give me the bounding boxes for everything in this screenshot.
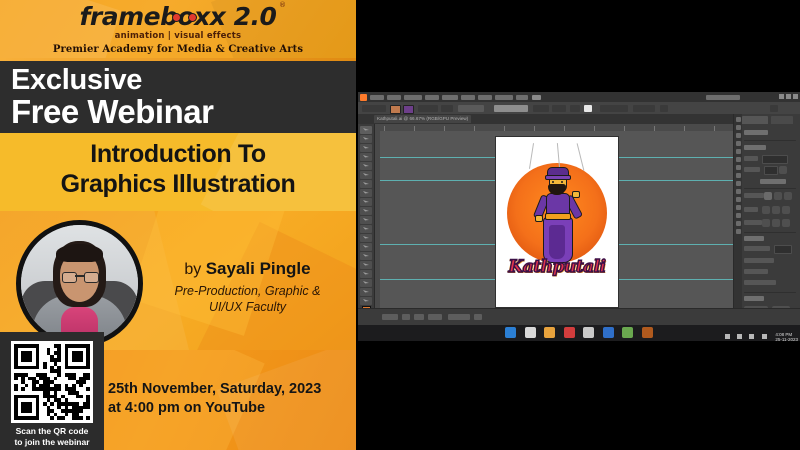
direct-selection-tool[interactable] — [360, 135, 372, 143]
magic-wand-tool[interactable] — [360, 144, 372, 152]
pathfinder-icon[interactable] — [736, 205, 741, 210]
avatar — [16, 220, 143, 347]
align-icon[interactable] — [736, 213, 741, 218]
show-rulers-button[interactable] — [762, 206, 770, 214]
swatches-icon[interactable] — [736, 149, 741, 154]
glasses-icon — [62, 272, 77, 283]
lasso-tool[interactable] — [360, 153, 372, 161]
snap-to-grid-button[interactable] — [772, 219, 780, 227]
gradient-tool[interactable] — [360, 279, 372, 287]
type-tool[interactable] — [360, 180, 372, 188]
units-label — [744, 156, 758, 161]
eyedropper-tool[interactable] — [360, 288, 372, 296]
speaker-name: Sayali Pingle — [206, 259, 311, 278]
webinar-promo-panel: frameboxx 2.0® animation | visual effect… — [0, 0, 356, 450]
layers-icon[interactable] — [736, 125, 741, 130]
chevron-down-icon[interactable] — [660, 105, 668, 112]
checkbox-option-1[interactable] — [744, 258, 774, 263]
shaper-tool[interactable] — [360, 216, 372, 224]
webinar-title-line-2: Graphics Illustration — [0, 170, 356, 199]
selection-tool[interactable] — [360, 126, 372, 134]
paintbrush-tool[interactable] — [360, 207, 372, 215]
artboard-number-field[interactable] — [428, 314, 442, 320]
brushes-icon[interactable] — [736, 157, 741, 162]
screenshare-region: Kathputali.ai @ 66.67% (RGB/GPU Preview) — [358, 92, 800, 341]
battery-icon[interactable] — [762, 334, 767, 339]
artboards-count-field[interactable] — [764, 166, 778, 175]
blend-tool[interactable] — [360, 297, 372, 305]
artboard-swatch[interactable] — [584, 105, 592, 112]
symbols-icon[interactable] — [736, 165, 741, 170]
puppet-hand — [535, 215, 543, 222]
opacity-label — [441, 105, 453, 112]
divider — [744, 292, 796, 293]
pen-tool[interactable] — [360, 162, 372, 170]
menu-item-window[interactable] — [495, 95, 513, 100]
preferences-section-label — [744, 236, 764, 241]
qr-caption-line-1: Scan the QR code — [0, 426, 104, 436]
chevron-down-icon[interactable] — [474, 314, 482, 320]
stroke-swatch[interactable] — [403, 105, 414, 114]
start-icon[interactable] — [505, 327, 516, 338]
teams-icon[interactable] — [603, 327, 614, 338]
artwork-wordmark: Kathputali — [502, 255, 612, 279]
align-to-label — [744, 193, 764, 198]
screenshot-root: frameboxx 2.0® animation | visual effect… — [0, 0, 800, 450]
rotate-tool[interactable] — [360, 234, 372, 242]
transform-label — [600, 105, 628, 112]
properties-icon[interactable] — [736, 117, 741, 122]
show-guides-button[interactable] — [782, 206, 790, 214]
panel-tab-strip[interactable] — [742, 116, 798, 124]
menu-item-file[interactable] — [370, 95, 384, 100]
chevron-up-icon[interactable] — [725, 334, 730, 339]
panel-icon-rail[interactable] — [734, 114, 742, 309]
zoom-level-field[interactable] — [382, 314, 398, 320]
artboards-label — [744, 167, 760, 172]
schedule-date: 25th November, Saturday, 2023 — [108, 381, 321, 397]
webinar-title-band: Introduction To Graphics Illustration — [0, 133, 356, 211]
canvas-area[interactable]: Kathputali — [380, 131, 734, 309]
glasses-icon — [84, 272, 99, 283]
line-segment-tool[interactable] — [360, 189, 372, 197]
logo-dot-icon — [188, 13, 197, 22]
tools-panel[interactable] — [358, 124, 375, 309]
artboards-icon[interactable] — [736, 229, 741, 234]
qr-panel: Scan the QR code to join the webinar — [0, 332, 104, 450]
checkbox-option-2[interactable] — [744, 269, 768, 274]
rectangle-tool[interactable] — [360, 198, 372, 206]
divider — [744, 232, 796, 233]
bleed-field[interactable] — [774, 245, 792, 254]
menu-item-edit[interactable] — [387, 95, 401, 100]
clock-date: 25-11-2023 — [775, 337, 798, 341]
kathputali-artwork[interactable]: Kathputali — [496, 137, 618, 307]
webinar-title-line-1: Introduction To — [0, 140, 356, 169]
shape-builder-tool[interactable] — [360, 270, 372, 278]
file-explorer-icon[interactable] — [525, 327, 536, 338]
puppet-turban-band — [545, 175, 571, 180]
document-tab[interactable]: Kathputali.ai @ 66.67% (RGB/GPU Preview) — [374, 115, 471, 123]
checkbox-option-3[interactable] — [744, 280, 776, 285]
system-tray[interactable]: 4:08 PM 25-11-2023 — [722, 328, 799, 341]
window-controls[interactable] — [776, 93, 798, 101]
qr-caption-line-2: to join the webinar — [0, 437, 104, 447]
align-left-button[interactable] — [764, 192, 772, 200]
headline-band: Exclusive Free Webinar — [0, 58, 356, 133]
align-center-button[interactable] — [774, 192, 782, 200]
snap-to-pixel-button[interactable] — [782, 219, 790, 227]
free-transform-tool[interactable] — [360, 261, 372, 269]
rulers-label — [744, 207, 758, 212]
properties-panel[interactable] — [733, 114, 800, 309]
avatar-fringe — [56, 244, 103, 263]
tab-properties[interactable] — [742, 116, 768, 124]
edit-toolbar-button[interactable] — [494, 105, 528, 112]
menu-item-select[interactable] — [442, 95, 458, 100]
color-icon[interactable] — [736, 141, 741, 146]
units-select[interactable] — [762, 155, 788, 164]
width-tool[interactable] — [360, 252, 372, 260]
close-icon[interactable] — [793, 94, 798, 99]
divider — [744, 140, 796, 141]
edit-artboards-button[interactable] — [779, 166, 787, 174]
brand-name: frameboxx — [80, 2, 226, 31]
align-label — [570, 105, 580, 112]
brand-wordmark: frameboxx 2.0® — [80, 4, 277, 29]
appearance-icon[interactable] — [736, 197, 741, 202]
speaker-byline: by Sayali Pingle — [145, 259, 350, 279]
scale-tool[interactable] — [360, 243, 372, 251]
tab-libraries[interactable] — [771, 116, 793, 124]
minimize-icon[interactable] — [779, 94, 784, 99]
menu-item-help[interactable] — [516, 95, 528, 100]
curvature-tool[interactable] — [360, 171, 372, 179]
libraries-icon[interactable] — [736, 133, 741, 138]
network-icon[interactable] — [737, 334, 742, 339]
transform-icon[interactable] — [736, 221, 741, 226]
qr-code[interactable] — [11, 341, 93, 423]
puppet-eye — [561, 181, 563, 183]
illustrator-logo-icon — [360, 94, 367, 101]
folder-icon[interactable] — [544, 327, 555, 338]
speaker-band: by Sayali Pingle Pre-Production, Graphic… — [0, 211, 356, 350]
no-selection-label — [744, 130, 768, 135]
snap-label — [744, 220, 762, 225]
bleed-label — [744, 246, 770, 251]
document-section-label — [744, 145, 766, 150]
speaker-role-line-1: Pre-Production, Graphic & — [145, 284, 350, 298]
show-grid-button[interactable] — [772, 206, 780, 214]
glasses-bridge-icon — [75, 275, 84, 276]
workspace-switcher[interactable] — [706, 95, 740, 100]
accent-rule — [0, 58, 356, 61]
puppet-eye — [552, 181, 554, 183]
document-setup-button[interactable] — [533, 105, 549, 112]
puppet-figure — [536, 167, 578, 267]
stroke-weight-label — [418, 105, 438, 112]
fill-swatch[interactable] — [390, 105, 401, 114]
logo-band: frameboxx 2.0® animation | visual effect… — [0, 0, 356, 58]
maximize-icon[interactable] — [786, 94, 791, 99]
store-icon[interactable] — [583, 327, 594, 338]
puppet-string — [529, 143, 534, 169]
eraser-tool[interactable] — [360, 225, 372, 233]
illustrator-taskbar-icon[interactable] — [642, 327, 653, 338]
menu-item-view[interactable] — [478, 95, 492, 100]
quick-actions-section-label — [744, 296, 764, 301]
brand-subtitle: animation | visual effects — [0, 31, 356, 41]
artboard[interactable]: Kathputali — [496, 137, 618, 307]
status-bar[interactable] — [358, 308, 800, 325]
chevron-down-icon[interactable] — [402, 314, 410, 320]
quick-actions-label — [760, 179, 786, 184]
headline-line-2: Free Webinar — [11, 93, 213, 131]
more-options-icon[interactable] — [770, 105, 778, 112]
menu-item-object[interactable] — [404, 95, 422, 100]
preferences-button[interactable] — [552, 105, 566, 112]
speaker-role-line-2: UI/UX Faculty — [145, 300, 350, 314]
volume-icon[interactable] — [749, 334, 754, 339]
schedule-time: at 4:00 pm on YouTube — [108, 400, 265, 416]
illustrator-window: Kathputali.ai @ 66.67% (RGB/GPU Preview) — [358, 92, 800, 325]
stroke-icon[interactable] — [736, 173, 741, 178]
registered-mark-icon: ® — [279, 2, 286, 9]
byline-prefix: by — [184, 261, 205, 278]
align-right-button[interactable] — [784, 192, 792, 200]
artboard-nav-first[interactable] — [414, 314, 424, 320]
menu-item-effect[interactable] — [461, 95, 475, 100]
puppet-sash — [545, 213, 571, 220]
status-tool-label — [448, 314, 470, 320]
divider — [744, 188, 796, 189]
media-icon[interactable] — [622, 327, 633, 338]
qr-code-matrix — [14, 344, 90, 420]
gradient-icon[interactable] — [736, 181, 741, 186]
app-menu-bar[interactable] — [358, 92, 800, 102]
menu-item-type[interactable] — [425, 95, 439, 100]
browser-icon[interactable] — [564, 327, 575, 338]
puppet-skirt-shade — [549, 225, 565, 259]
style-dropdown[interactable] — [458, 105, 484, 112]
taskbar-clock[interactable]: 4:08 PM 25-11-2023 — [775, 332, 798, 341]
snap-to-point-button[interactable] — [762, 219, 770, 227]
arrange-label — [633, 105, 655, 112]
brand-tagline: Premier Academy for Media & Creative Art… — [0, 44, 356, 55]
puppet-hand — [572, 191, 580, 198]
brand-logo: frameboxx 2.0® animation | visual effect… — [0, 4, 356, 55]
windows-taskbar[interactable]: 4:08 PM 25-11-2023 — [358, 325, 800, 341]
brand-version: 2.0® — [225, 4, 276, 29]
logo-dot-icon — [172, 13, 181, 22]
selection-label — [362, 105, 386, 112]
search-icon[interactable] — [532, 95, 541, 100]
transparency-icon[interactable] — [736, 189, 741, 194]
